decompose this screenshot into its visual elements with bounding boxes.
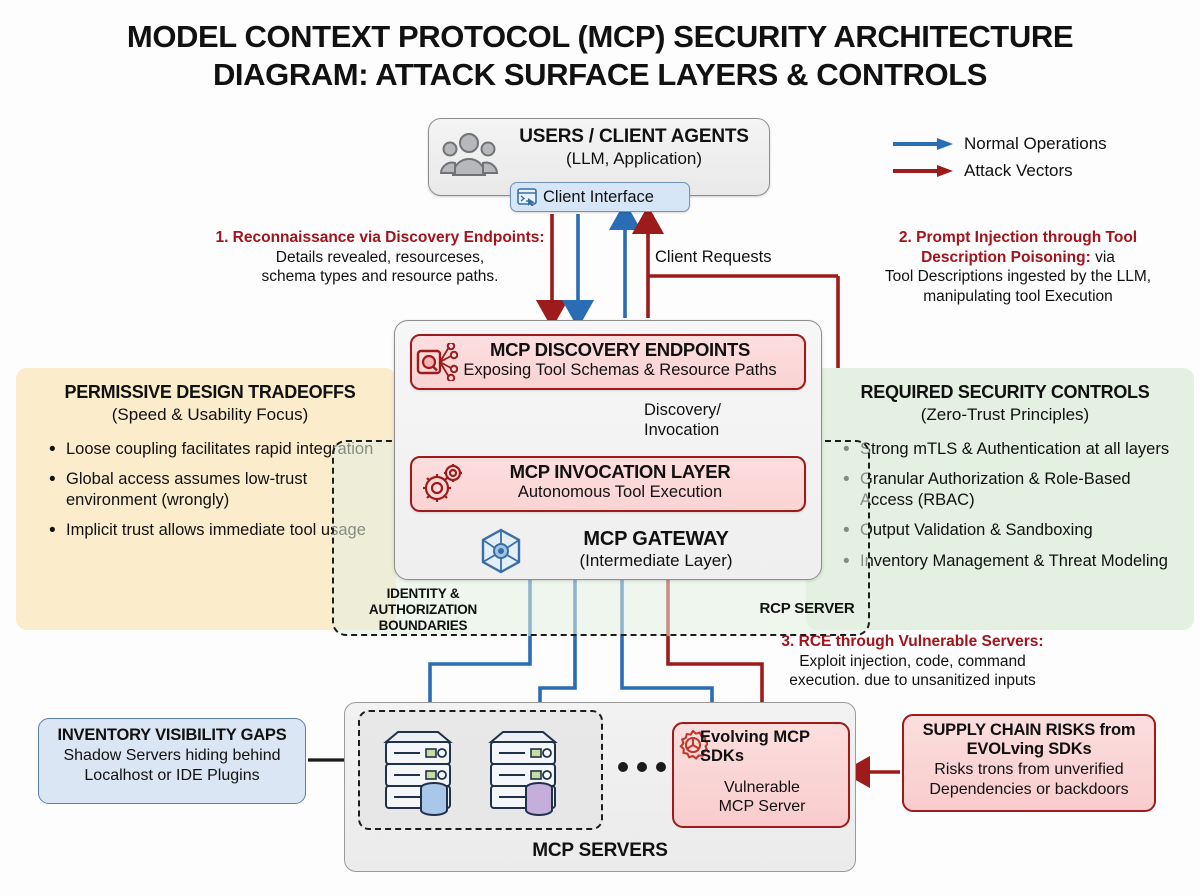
discovery-invocation-flow-label: Discovery/ Invocation [644, 400, 784, 440]
red-arrow-icon [893, 165, 955, 177]
supply-title-line-1: SUPPLY CHAIN RISKS from [906, 721, 1152, 740]
mcp-servers-label: MCP SERVERS [344, 840, 856, 862]
sdk-title-line-1: Evolving MCP [700, 728, 840, 747]
legend: Normal Operations Attack Vectors [893, 130, 1193, 184]
identity-label-line-2: AUTHORIZATION [348, 602, 498, 618]
dot [618, 762, 628, 772]
supply-title-line-2: EVOLving SDKs [906, 740, 1152, 759]
page-title: MODEL CONTEXT PROTOCOL (MCP) SECURITY AR… [0, 18, 1200, 94]
annotation-prompt-injection: 2. Prompt Injection through Tool Descrip… [838, 228, 1198, 306]
inventory-sub-line-2: Localhost or IDE Plugins [44, 766, 300, 785]
annotation-2-body-line-1: Tool Descriptions ingested by the LLM, [838, 267, 1198, 287]
annotation-2-heading-line-1: 2. Prompt Injection through Tool [838, 228, 1198, 248]
identity-label-line-3: BOUNDARIES [348, 618, 498, 634]
list-item: Granular Authorization & Role-Based Acce… [836, 469, 1174, 510]
users-subtitle: (LLM, Application) [500, 149, 768, 169]
panel-left-bullet-list: Loose coupling facilitates rapid integra… [42, 439, 378, 541]
annotation-rce: 3. RCE through Vulnerable Servers: Explo… [740, 632, 1085, 691]
inventory-text-block: INVENTORY VISIBILITY GAPS Shadow Servers… [44, 726, 300, 785]
inventory-sub-line-1: Shadow Servers hiding behind [44, 746, 300, 765]
invocation-subtitle: Autonomous Tool Execution [446, 483, 794, 502]
sdk-sub-line-2: MCP Server [682, 797, 842, 816]
client-interface-button[interactable]: Client Interface [510, 182, 690, 212]
identity-boundary-label: IDENTITY & AUTHORIZATION BOUNDARIES [348, 586, 498, 634]
title-line-2: DIAGRAM: ATTACK SURFACE LAYERS & CONTROL… [0, 56, 1200, 94]
terminal-window-icon [517, 188, 537, 206]
annotation-2-heading-line-2: Description Poisoning: via [838, 248, 1198, 268]
sdk-title-line-2: SDKs [700, 747, 840, 766]
list-item: Output Validation & Sandboxing [836, 520, 1174, 540]
panel-left-subtitle: (Speed & Usability Focus) [42, 405, 378, 425]
users-title: USERS / CLIENT AGENTS [500, 126, 768, 148]
blue-arrow-icon [893, 138, 955, 150]
gateway-title: MCP GATEWAY [470, 528, 800, 551]
annotation-1-body-line-2: schema types and resource paths. [170, 267, 590, 287]
dot [656, 762, 666, 772]
server-rack-icon-1 [372, 726, 464, 820]
discovery-subtitle: Exposing Tool Schemas & Resource Paths [446, 361, 794, 380]
servers-ellipsis [618, 762, 666, 772]
gateway-text-block: MCP GATEWAY (Intermediate Layer) [470, 528, 800, 571]
rcp-server-label: RCP SERVER [742, 600, 872, 617]
list-item: Strong mTLS & Authentication at all laye… [836, 439, 1174, 459]
annotation-3-body-line-1: Exploit injection, code, command [740, 652, 1085, 672]
annotation-2-heading-tail: via [1091, 249, 1115, 266]
sdk-sub-line-1: Vulnerable [682, 778, 842, 797]
annotation-1-heading: 1. Reconnaissance via Discovery Endpoint… [170, 228, 590, 248]
annotation-2-body-line-2: manipulating tool Execution [838, 287, 1198, 307]
invocation-text-block: MCP INVOCATION LAYER Autonomous Tool Exe… [446, 461, 794, 502]
legend-label-normal-operations: Normal Operations [964, 134, 1107, 154]
diagram-canvas: MODEL CONTEXT PROTOCOL (MCP) SECURITY AR… [0, 0, 1200, 896]
legend-item-attack-vectors: Attack Vectors [893, 157, 1193, 184]
identity-label-line-1: IDENTITY & [348, 586, 498, 602]
users-group-icon [440, 128, 498, 180]
sdk-title-block: Evolving MCP SDKs [700, 728, 840, 766]
server-rack-icon-2 [477, 726, 569, 820]
list-item: Inventory Management & Threat Modeling [836, 551, 1174, 571]
supply-text-block: SUPPLY CHAIN RISKS from EVOLving SDKs Ri… [906, 721, 1152, 799]
flow-label-line-1: Discovery/ [644, 400, 784, 420]
annotation-2-heading-strong: Description Poisoning: [921, 249, 1091, 266]
client-interface-label: Client Interface [543, 188, 654, 207]
panel-right-subtitle: (Zero-Trust Principles) [836, 405, 1174, 425]
gateway-subtitle: (Intermediate Layer) [470, 551, 800, 571]
sdk-subtitle-block: Vulnerable MCP Server [682, 778, 842, 816]
discovery-title: MCP DISCOVERY ENDPOINTS [446, 339, 794, 361]
title-line-1: MODEL CONTEXT PROTOCOL (MCP) SECURITY AR… [127, 19, 1073, 54]
users-text-block: USERS / CLIENT AGENTS (LLM, Application) [500, 126, 768, 169]
legend-item-normal-operations: Normal Operations [893, 130, 1193, 157]
dot [637, 762, 647, 772]
list-item: Implicit trust allows immediate tool usa… [42, 520, 378, 540]
list-item: Global access assumes low-trust environm… [42, 469, 378, 510]
panel-left-title: PERMISSIVE DESIGN TRADEOFFS [42, 382, 378, 403]
legend-label-attack-vectors: Attack Vectors [964, 161, 1073, 181]
flow-label-line-2: Invocation [644, 420, 784, 440]
list-item: Loose coupling facilitates rapid integra… [42, 439, 378, 459]
supply-sub-line-2: Dependencies or backdoors [906, 780, 1152, 799]
annotation-1-body-line-1: Details revealed, resourceses, [170, 248, 590, 268]
client-requests-label: Client Requests [655, 248, 815, 267]
invocation-title: MCP INVOCATION LAYER [446, 461, 794, 483]
annotation-3-body-line-2: execution. due to unsanitized inputs [740, 671, 1085, 691]
inventory-title: INVENTORY VISIBILITY GAPS [44, 726, 300, 745]
annotation-reconnaissance: 1. Reconnaissance via Discovery Endpoint… [170, 228, 590, 287]
panel-right-bullet-list: Strong mTLS & Authentication at all laye… [836, 439, 1174, 571]
discovery-text-block: MCP DISCOVERY ENDPOINTS Exposing Tool Sc… [446, 339, 794, 380]
panel-right-title: REQUIRED SECURITY CONTROLS [836, 382, 1174, 403]
supply-sub-line-1: Risks trons from unverified [906, 760, 1152, 779]
